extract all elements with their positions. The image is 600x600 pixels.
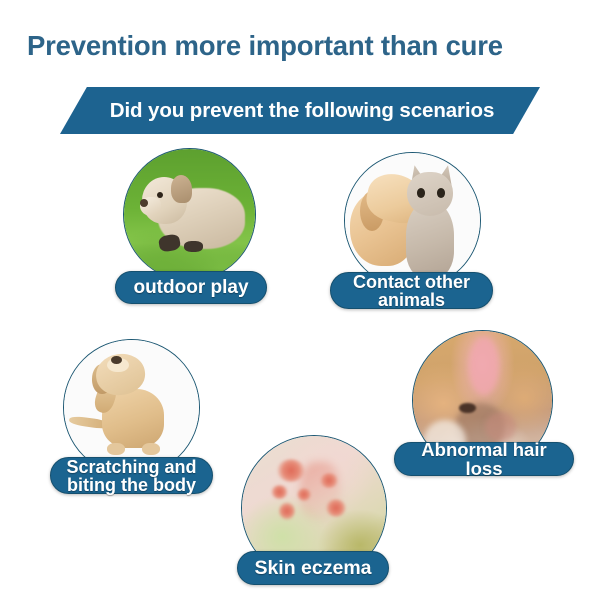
label-pill-skin-eczema[interactable]: Skin eczema <box>237 551 389 585</box>
eczema-spot <box>271 485 288 499</box>
dog-leg-shape <box>158 234 181 253</box>
kitten-eye-shape <box>437 188 445 197</box>
kitten-eye-shape <box>417 188 425 197</box>
puppy-foot-shape <box>142 443 160 455</box>
eczema-spot <box>326 499 346 516</box>
label-pill-outdoor-play[interactable]: outdoor play <box>115 271 267 304</box>
scratching-biting-photo <box>63 339 200 476</box>
contact-other-animals-photo <box>344 152 481 289</box>
scenario-card-skin-eczema[interactable]: Skin eczema <box>241 435 396 595</box>
inflamed-skin-patch <box>469 337 500 395</box>
puppy-and-kitten-icon <box>345 153 480 288</box>
label-pill-contact-other-animals[interactable]: Contact other animals <box>330 272 493 309</box>
label-pill-abnormal-hair-loss[interactable]: Abnormal hair loss <box>394 442 574 476</box>
poster-root: Prevention more important than cure Did … <box>0 0 600 600</box>
banner: Did you prevent the following scenarios <box>60 87 540 134</box>
label-text: Abnormal hair loss <box>405 440 563 479</box>
outdoor-play-photo <box>123 148 256 281</box>
label-text: Skin eczema <box>254 558 371 578</box>
label-pill-scratching-biting[interactable]: Scratching and biting the body <box>50 457 213 494</box>
dog-eye-shape <box>459 403 476 413</box>
eczema-spot <box>279 502 295 519</box>
eczema-spot <box>277 459 306 482</box>
eczema-spot <box>320 473 339 487</box>
scenario-card-scratching-biting[interactable]: Scratching and biting the body <box>63 339 213 499</box>
dog-eye-shape <box>157 192 163 198</box>
dog-on-grass-icon <box>124 149 255 280</box>
puppy-foot-shape <box>107 443 125 455</box>
label-text: outdoor play <box>133 278 248 298</box>
label-text: Scratching and biting the body <box>61 458 202 494</box>
scratching-puppy-icon <box>64 340 199 475</box>
inflamed-skin-patch <box>485 412 516 443</box>
dog-leg-shape <box>184 241 202 253</box>
banner-label: Did you prevent the following scenarios <box>60 87 540 134</box>
page-title: Prevention more important than cure <box>27 30 503 62</box>
eczema-spot <box>297 488 311 501</box>
scenario-card-outdoor-play[interactable]: outdoor play <box>123 148 258 310</box>
label-text: Contact other animals <box>341 273 482 309</box>
dog-nose-shape <box>140 199 148 207</box>
dog-ear-shape <box>171 175 192 203</box>
scenario-card-contact-other-animals[interactable]: Contact other animals <box>344 152 494 312</box>
scenario-card-abnormal-hair-loss[interactable]: Abnormal hair loss <box>412 330 572 490</box>
